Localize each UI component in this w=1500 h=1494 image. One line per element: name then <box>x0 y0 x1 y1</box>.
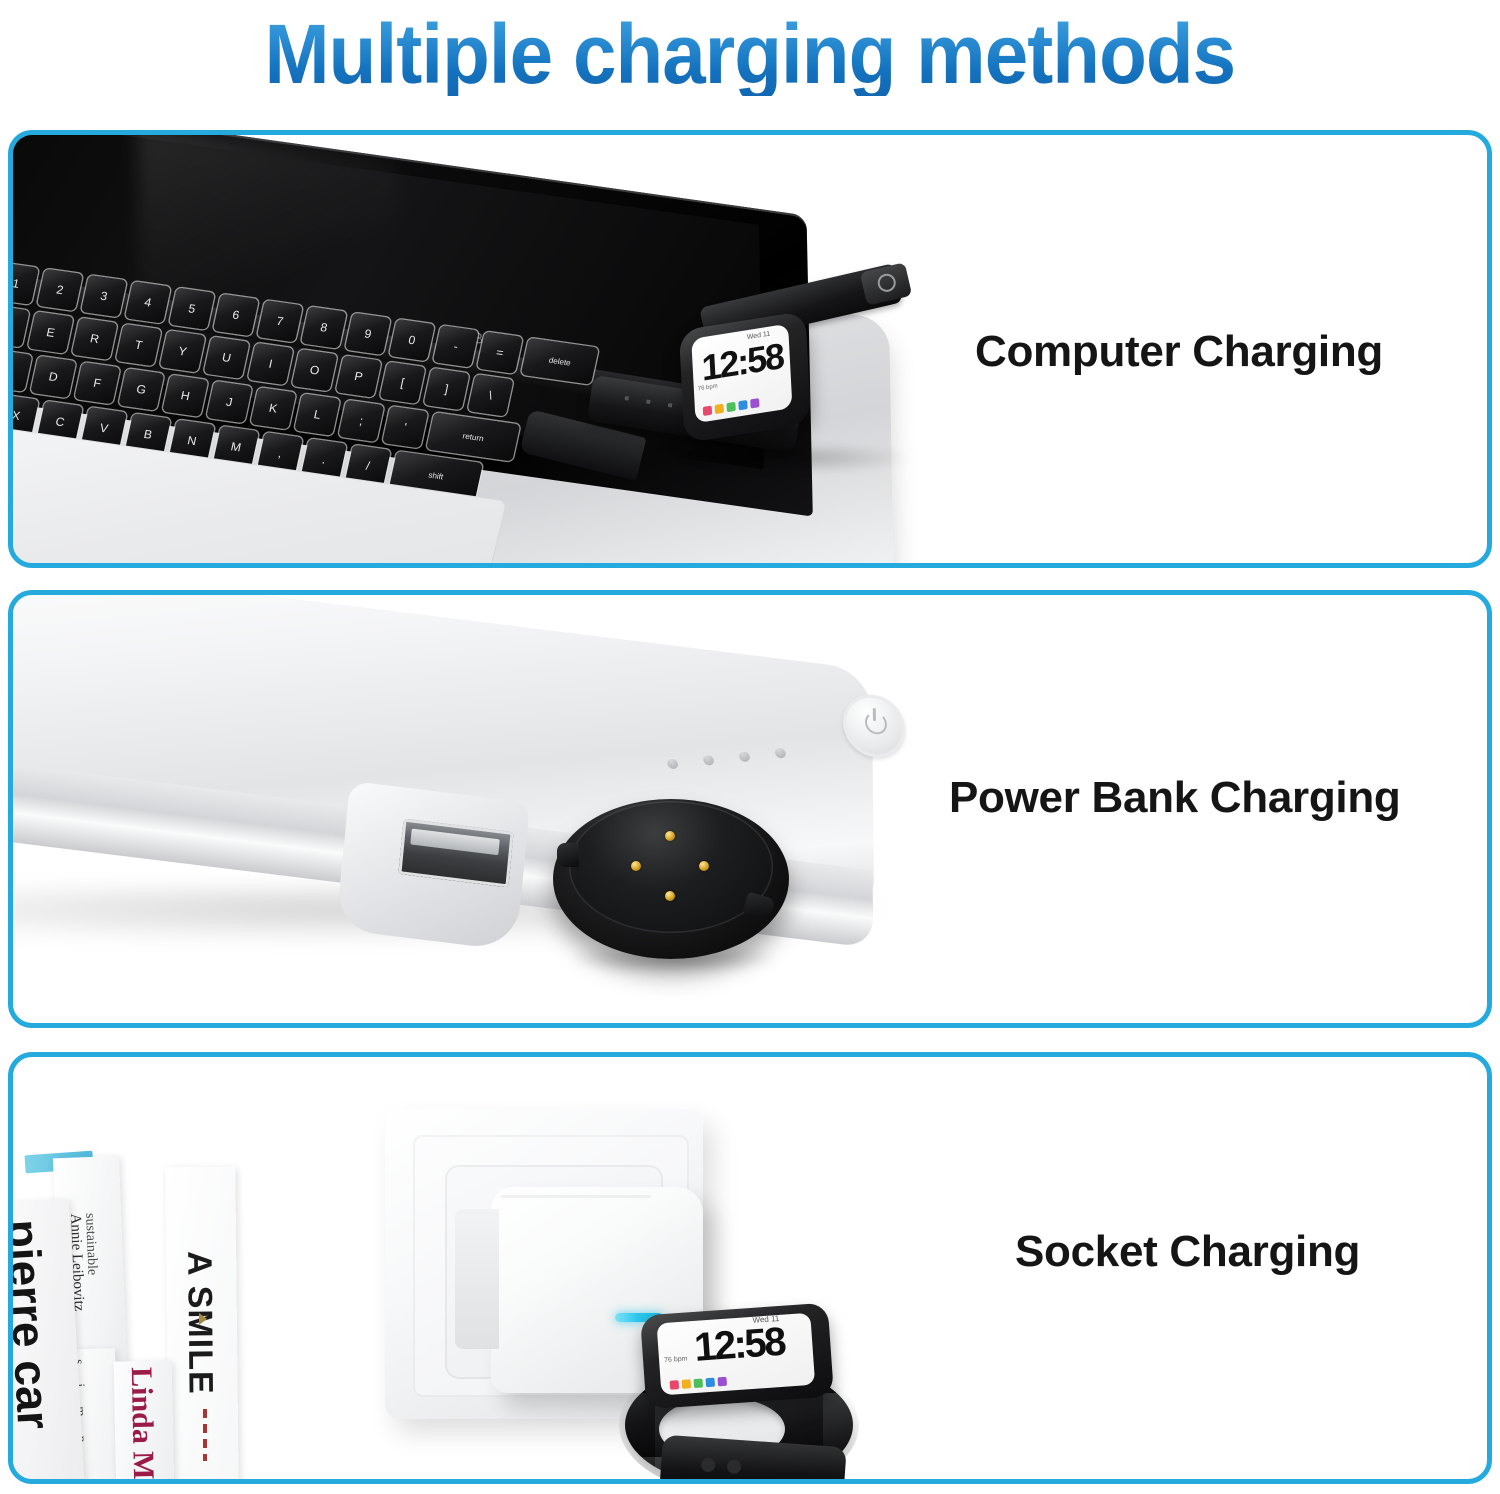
puck-body <box>553 799 789 959</box>
book-spine: Linda M <box>114 1360 175 1484</box>
book-stack: A SMILE sustainable Annie Leibovitz Mari… <box>8 1161 237 1484</box>
book-marker-icon <box>199 1313 207 1325</box>
puck-cable-notch <box>557 843 579 867</box>
key[interactable]: [ <box>380 362 426 404</box>
key[interactable]: S <box>8 349 32 391</box>
key[interactable]: P <box>336 355 382 397</box>
key[interactable]: ' <box>382 406 428 448</box>
key[interactable]: L <box>294 393 340 435</box>
key[interactable]: J <box>206 381 252 423</box>
puck-face <box>569 801 773 933</box>
key[interactable]: Y <box>160 330 206 372</box>
watch-body: Wed 11 12:58 76 bpm <box>679 311 811 443</box>
smartwatch-socket: Wed 11 12:58 76 bpm <box>599 1305 889 1484</box>
watch-heartrate: 76 bpm <box>664 1355 688 1364</box>
key[interactable]: R <box>72 318 118 360</box>
pogo-pin <box>665 891 675 901</box>
key[interactable]: 2 <box>37 269 83 311</box>
magnetic-charging-puck <box>553 791 789 969</box>
pogo-pin <box>699 861 709 871</box>
key[interactable]: K <box>250 387 296 429</box>
watch-app-icons <box>670 1377 727 1390</box>
key[interactable]: \ <box>468 374 514 416</box>
key[interactable]: W <box>8 305 30 347</box>
key[interactable]: G <box>118 368 164 410</box>
key[interactable]: I <box>248 343 294 385</box>
card-computer-charging: MacBook esc ~ 1 2 3 4 5 6 7 8 9 0 - = de… <box>8 130 1492 568</box>
key[interactable]: = <box>477 332 523 374</box>
watch-time: 12:58 <box>701 335 784 390</box>
book-title: pierre car <box>8 1218 61 1430</box>
key[interactable]: 9 <box>345 313 391 355</box>
key[interactable]: E <box>28 311 74 353</box>
key[interactable]: O <box>292 349 338 391</box>
key[interactable]: 8 <box>301 306 347 348</box>
key[interactable]: 3 <box>81 275 127 317</box>
adapter-seam <box>501 1195 651 1198</box>
card-power-bank-charging: Power Bank Charging <box>8 590 1492 1028</box>
key[interactable]: U <box>204 336 250 378</box>
key[interactable]: ; <box>338 400 384 442</box>
key[interactable]: T <box>116 324 162 366</box>
title-bar: Multiple charging methods <box>0 0 1500 108</box>
key[interactable]: 6 <box>213 294 259 336</box>
key[interactable]: - <box>433 325 479 367</box>
watch-shadow <box>683 443 913 473</box>
watch-time: 12:58 <box>693 1320 786 1371</box>
page-title: Multiple charging methods <box>265 12 1236 96</box>
pogo-pin <box>631 861 641 871</box>
watch-face[interactable]: Wed 11 12:58 76 bpm <box>657 1313 816 1396</box>
key[interactable]: 1 <box>8 262 39 304</box>
pogo-pin <box>665 831 675 841</box>
book-author: Linda M <box>124 1367 160 1480</box>
adapter-plug-neck <box>455 1209 499 1349</box>
watch-body: Wed 11 12:58 76 bpm <box>640 1303 834 1410</box>
label-socket-charging: Socket Charging <box>1015 1227 1360 1277</box>
key[interactable]: 0 <box>389 319 435 361</box>
key[interactable]: F <box>74 362 120 404</box>
label-computer-charging: Computer Charging <box>975 327 1383 377</box>
key[interactable]: 7 <box>257 300 303 342</box>
key[interactable]: ] <box>424 368 470 410</box>
key[interactable]: 5 <box>169 288 215 330</box>
watch-face[interactable]: Wed 11 12:58 76 bpm <box>691 324 792 424</box>
watch-app-icons <box>703 398 760 416</box>
smartwatch-computer: Wed 11 12:58 76 bpm <box>533 273 953 503</box>
book-edge-marks <box>203 1409 207 1461</box>
key[interactable]: 4 <box>125 281 171 323</box>
key[interactable]: H <box>162 375 208 417</box>
card-socket-charging: Wed 11 12:58 76 bpm A SMILE sustainable … <box>8 1052 1492 1484</box>
key[interactable]: D <box>30 356 76 398</box>
book-spine: A SMILE <box>165 1167 238 1484</box>
label-power-bank-charging: Power Bank Charging <box>949 773 1401 823</box>
key[interactable]: return <box>426 412 520 461</box>
watch-heartrate: 76 bpm <box>698 383 718 392</box>
